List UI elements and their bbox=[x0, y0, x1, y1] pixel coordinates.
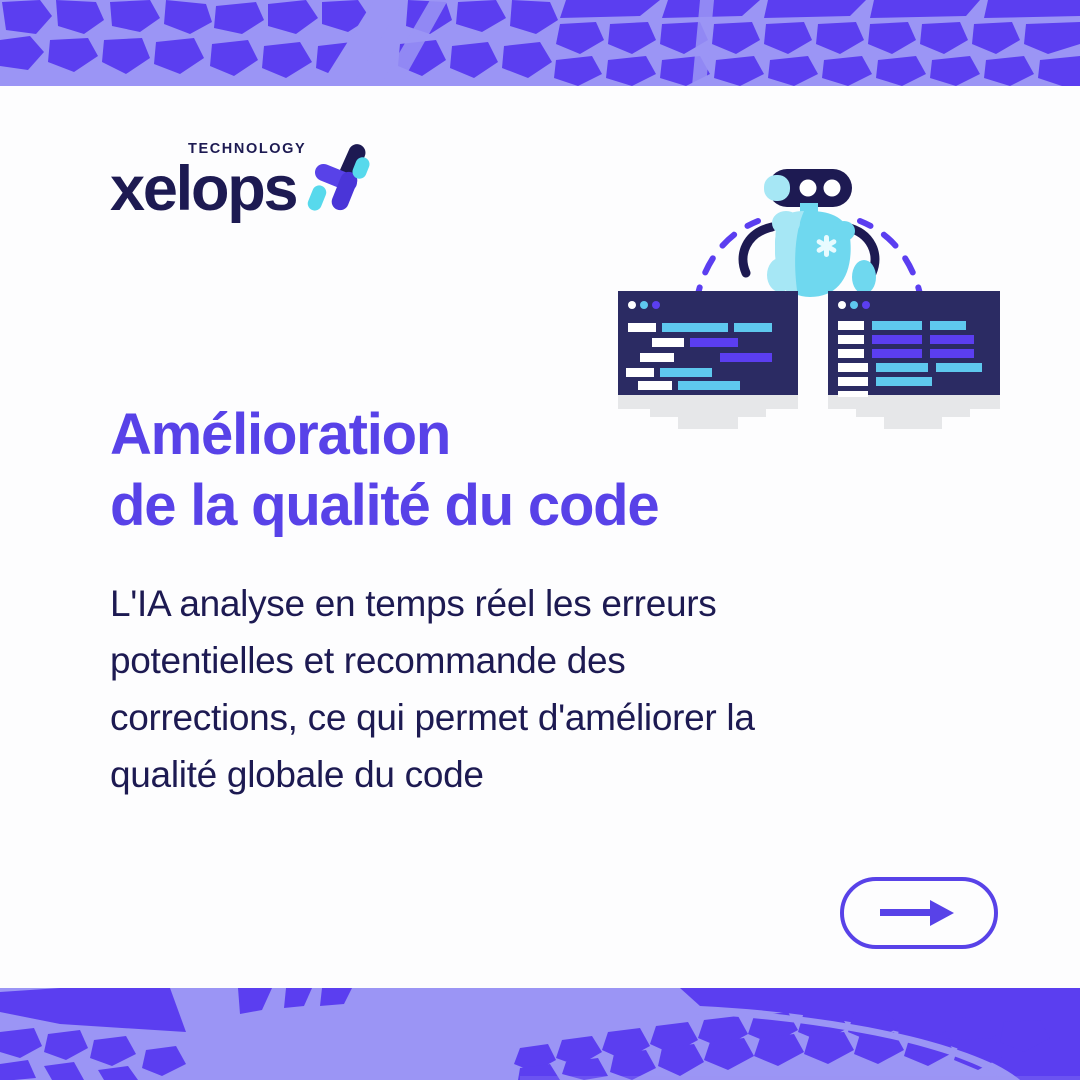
social-card-slide: TECHNOLOGY xelops bbox=[0, 0, 1080, 1080]
page-title: Amélioration de la qualité du code bbox=[110, 400, 910, 542]
arrow-right-icon bbox=[880, 898, 958, 928]
body-line-4: qualité globale du code bbox=[110, 747, 910, 804]
dragonfly-wing-pattern-icon bbox=[0, 0, 1080, 86]
top-decor-band bbox=[0, 0, 1080, 86]
brand-logo[interactable]: TECHNOLOGY xelops bbox=[110, 138, 372, 220]
bottom-decor-band bbox=[0, 988, 1080, 1080]
body-line-1: L'IA analyse en temps réel les erreurs bbox=[110, 576, 910, 633]
headline-line-1: Amélioration bbox=[110, 400, 910, 471]
robot-mascot-icon bbox=[743, 169, 876, 297]
next-slide-button[interactable] bbox=[840, 877, 998, 949]
headline-line-2: de la qualité du code bbox=[110, 471, 910, 542]
logo-superscript: TECHNOLOGY bbox=[188, 142, 306, 157]
logo-word: xelops bbox=[110, 160, 296, 220]
body-line-2: potentielles et recommande des bbox=[110, 633, 910, 690]
dragonfly-wing-pattern-icon bbox=[0, 988, 1080, 1080]
body-paragraph: L'IA analyse en temps réel les erreurs p… bbox=[110, 576, 910, 804]
logo-wordmark: TECHNOLOGY xelops bbox=[110, 144, 296, 220]
xelops-asterisk-mark-icon bbox=[306, 141, 372, 216]
body-line-3: corrections, ce qui permet d'améliorer l… bbox=[110, 690, 910, 747]
